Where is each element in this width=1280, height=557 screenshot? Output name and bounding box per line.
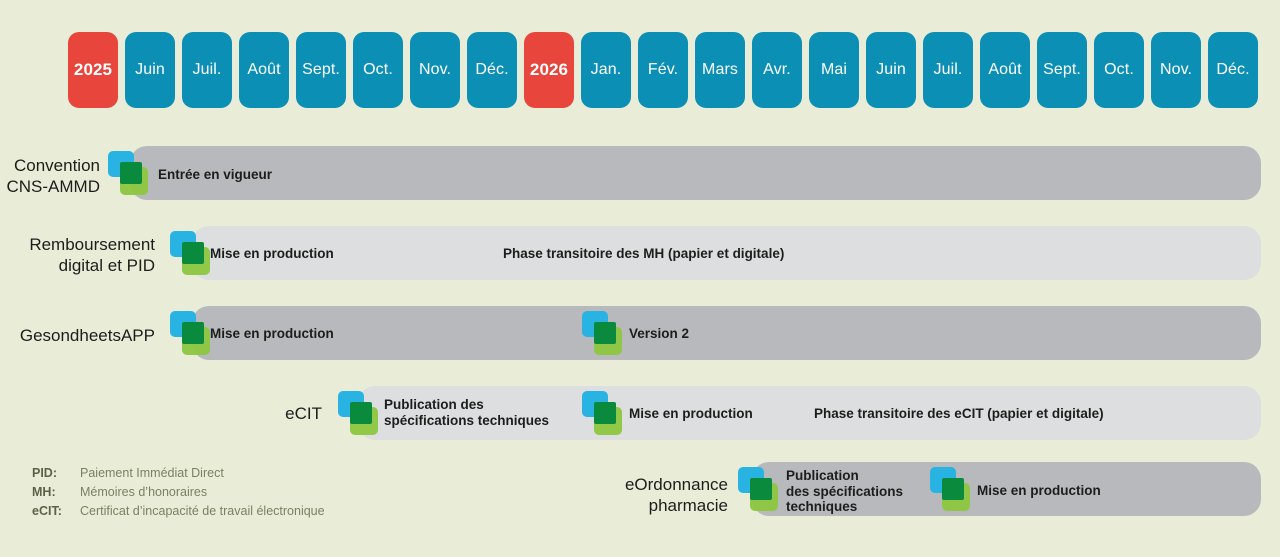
timescale-pill-2026-juil[interactable]: Juil. <box>923 32 973 108</box>
timescale-pill-2025-nov[interactable]: Nov. <box>410 32 460 108</box>
legend-abbr-mh: MH: <box>32 483 80 502</box>
timescale-pill-2026-avr[interactable]: Avr. <box>752 32 802 108</box>
milestone-icon-dark-green-square <box>182 242 204 264</box>
milestone-icon[interactable] <box>930 467 971 511</box>
legend-row-ecit: eCIT: Certificat d’incapacité de travail… <box>32 502 325 521</box>
row-label-convention-cns-ammd: Convention CNS-AMMD <box>0 155 100 197</box>
legend: PID: Paiement Immédiat Direct MH: Mémoir… <box>32 464 325 521</box>
legend-desc-mh: Mémoires d’honoraires <box>80 483 207 502</box>
timescale-pill-2026-mars[interactable]: Mars <box>695 32 745 108</box>
timeline-bar-gesondheetsapp[interactable] <box>192 306 1261 360</box>
legend-row-pid: PID: Paiement Immédiat Direct <box>32 464 325 483</box>
timescale-pill-2026-sept[interactable]: Sept. <box>1037 32 1087 108</box>
milestone-icon[interactable] <box>108 151 149 195</box>
milestone-label-entree-en-vigueur: Entrée en vigueur <box>158 167 272 183</box>
timescale-pill-2026-fev[interactable]: Fév. <box>638 32 688 108</box>
legend-abbr-pid: PID: <box>32 464 80 483</box>
timescale-pill-2025-dec[interactable]: Déc. <box>467 32 517 108</box>
milestone-label-publication-specifications-techniques: Publication des spécifications technique… <box>384 397 549 428</box>
row-label-gesondheetsapp: GesondheetsAPP <box>0 325 155 346</box>
phase-label-phase-transitoire-ecit: Phase transitoire des eCIT (papier et di… <box>814 406 1104 421</box>
row-label-ecit: eCIT <box>0 403 322 424</box>
legend-desc-pid: Paiement Immédiat Direct <box>80 464 224 483</box>
timescale-pill-strip: 2025 Juin Juil. Août Sept. Oct. Nov. Déc… <box>68 32 1258 108</box>
timeline-bar-convention-cns-ammd[interactable] <box>130 146 1261 200</box>
milestone-icon[interactable] <box>582 391 623 435</box>
timescale-pill-2026-jan[interactable]: Jan. <box>581 32 631 108</box>
milestone-icon[interactable] <box>170 311 211 355</box>
milestone-label-mise-en-production: Mise en production <box>629 406 753 422</box>
row-label-remboursement-digital-et-pid: Remboursement digital et PID <box>0 234 155 276</box>
timescale-pill-2026-aout[interactable]: Août <box>980 32 1030 108</box>
milestone-label-mise-en-production: Mise en production <box>210 326 334 342</box>
timescale-pill-2025-juil[interactable]: Juil. <box>182 32 232 108</box>
timescale-pill-2025-aout[interactable]: Août <box>239 32 289 108</box>
milestone-icon[interactable] <box>738 467 779 511</box>
milestone-icon-dark-green-square <box>594 402 616 424</box>
timescale-pill-2026-oct[interactable]: Oct. <box>1094 32 1144 108</box>
legend-abbr-ecit: eCIT: <box>32 502 80 521</box>
timescale-pill-2025-oct[interactable]: Oct. <box>353 32 403 108</box>
milestone-icon[interactable] <box>170 231 211 275</box>
milestone-icon-dark-green-square <box>750 478 772 500</box>
timescale-pill-2026[interactable]: 2026 <box>524 32 574 108</box>
legend-row-mh: MH: Mémoires d’honoraires <box>32 483 325 502</box>
milestone-label-version-2: Version 2 <box>629 326 689 342</box>
milestone-icon[interactable] <box>582 311 623 355</box>
roadmap-timeline: 2025 Juin Juil. Août Sept. Oct. Nov. Déc… <box>0 0 1280 557</box>
milestone-icon-dark-green-square <box>594 322 616 344</box>
phase-label-phase-transitoire-mh: Phase transitoire des MH (papier et digi… <box>503 246 784 261</box>
milestone-icon-dark-green-square <box>182 322 204 344</box>
milestone-icon[interactable] <box>338 391 379 435</box>
timescale-pill-2026-nov[interactable]: Nov. <box>1151 32 1201 108</box>
milestone-icon-dark-green-square <box>120 162 142 184</box>
timescale-pill-2025[interactable]: 2025 <box>68 32 118 108</box>
timescale-pill-2025-juin[interactable]: Juin <box>125 32 175 108</box>
timescale-pill-2026-juin[interactable]: Juin <box>866 32 916 108</box>
timescale-pill-2025-sept[interactable]: Sept. <box>296 32 346 108</box>
milestone-icon-dark-green-square <box>942 478 964 500</box>
row-label-eordonnance-pharmacie: eOrdonnance pharmacie <box>560 474 728 516</box>
timescale-pill-2026-dec[interactable]: Déc. <box>1208 32 1258 108</box>
milestone-icon-dark-green-square <box>350 402 372 424</box>
timescale-pill-2026-mai[interactable]: Mai <box>809 32 859 108</box>
legend-desc-ecit: Certificat d’incapacité de travail élect… <box>80 502 325 521</box>
milestone-label-mise-en-production: Mise en production <box>977 483 1101 499</box>
milestone-label-mise-en-production: Mise en production <box>210 246 334 262</box>
milestone-label-publication-des-specifications-techniques: Publication des spécifications technique… <box>786 468 903 515</box>
